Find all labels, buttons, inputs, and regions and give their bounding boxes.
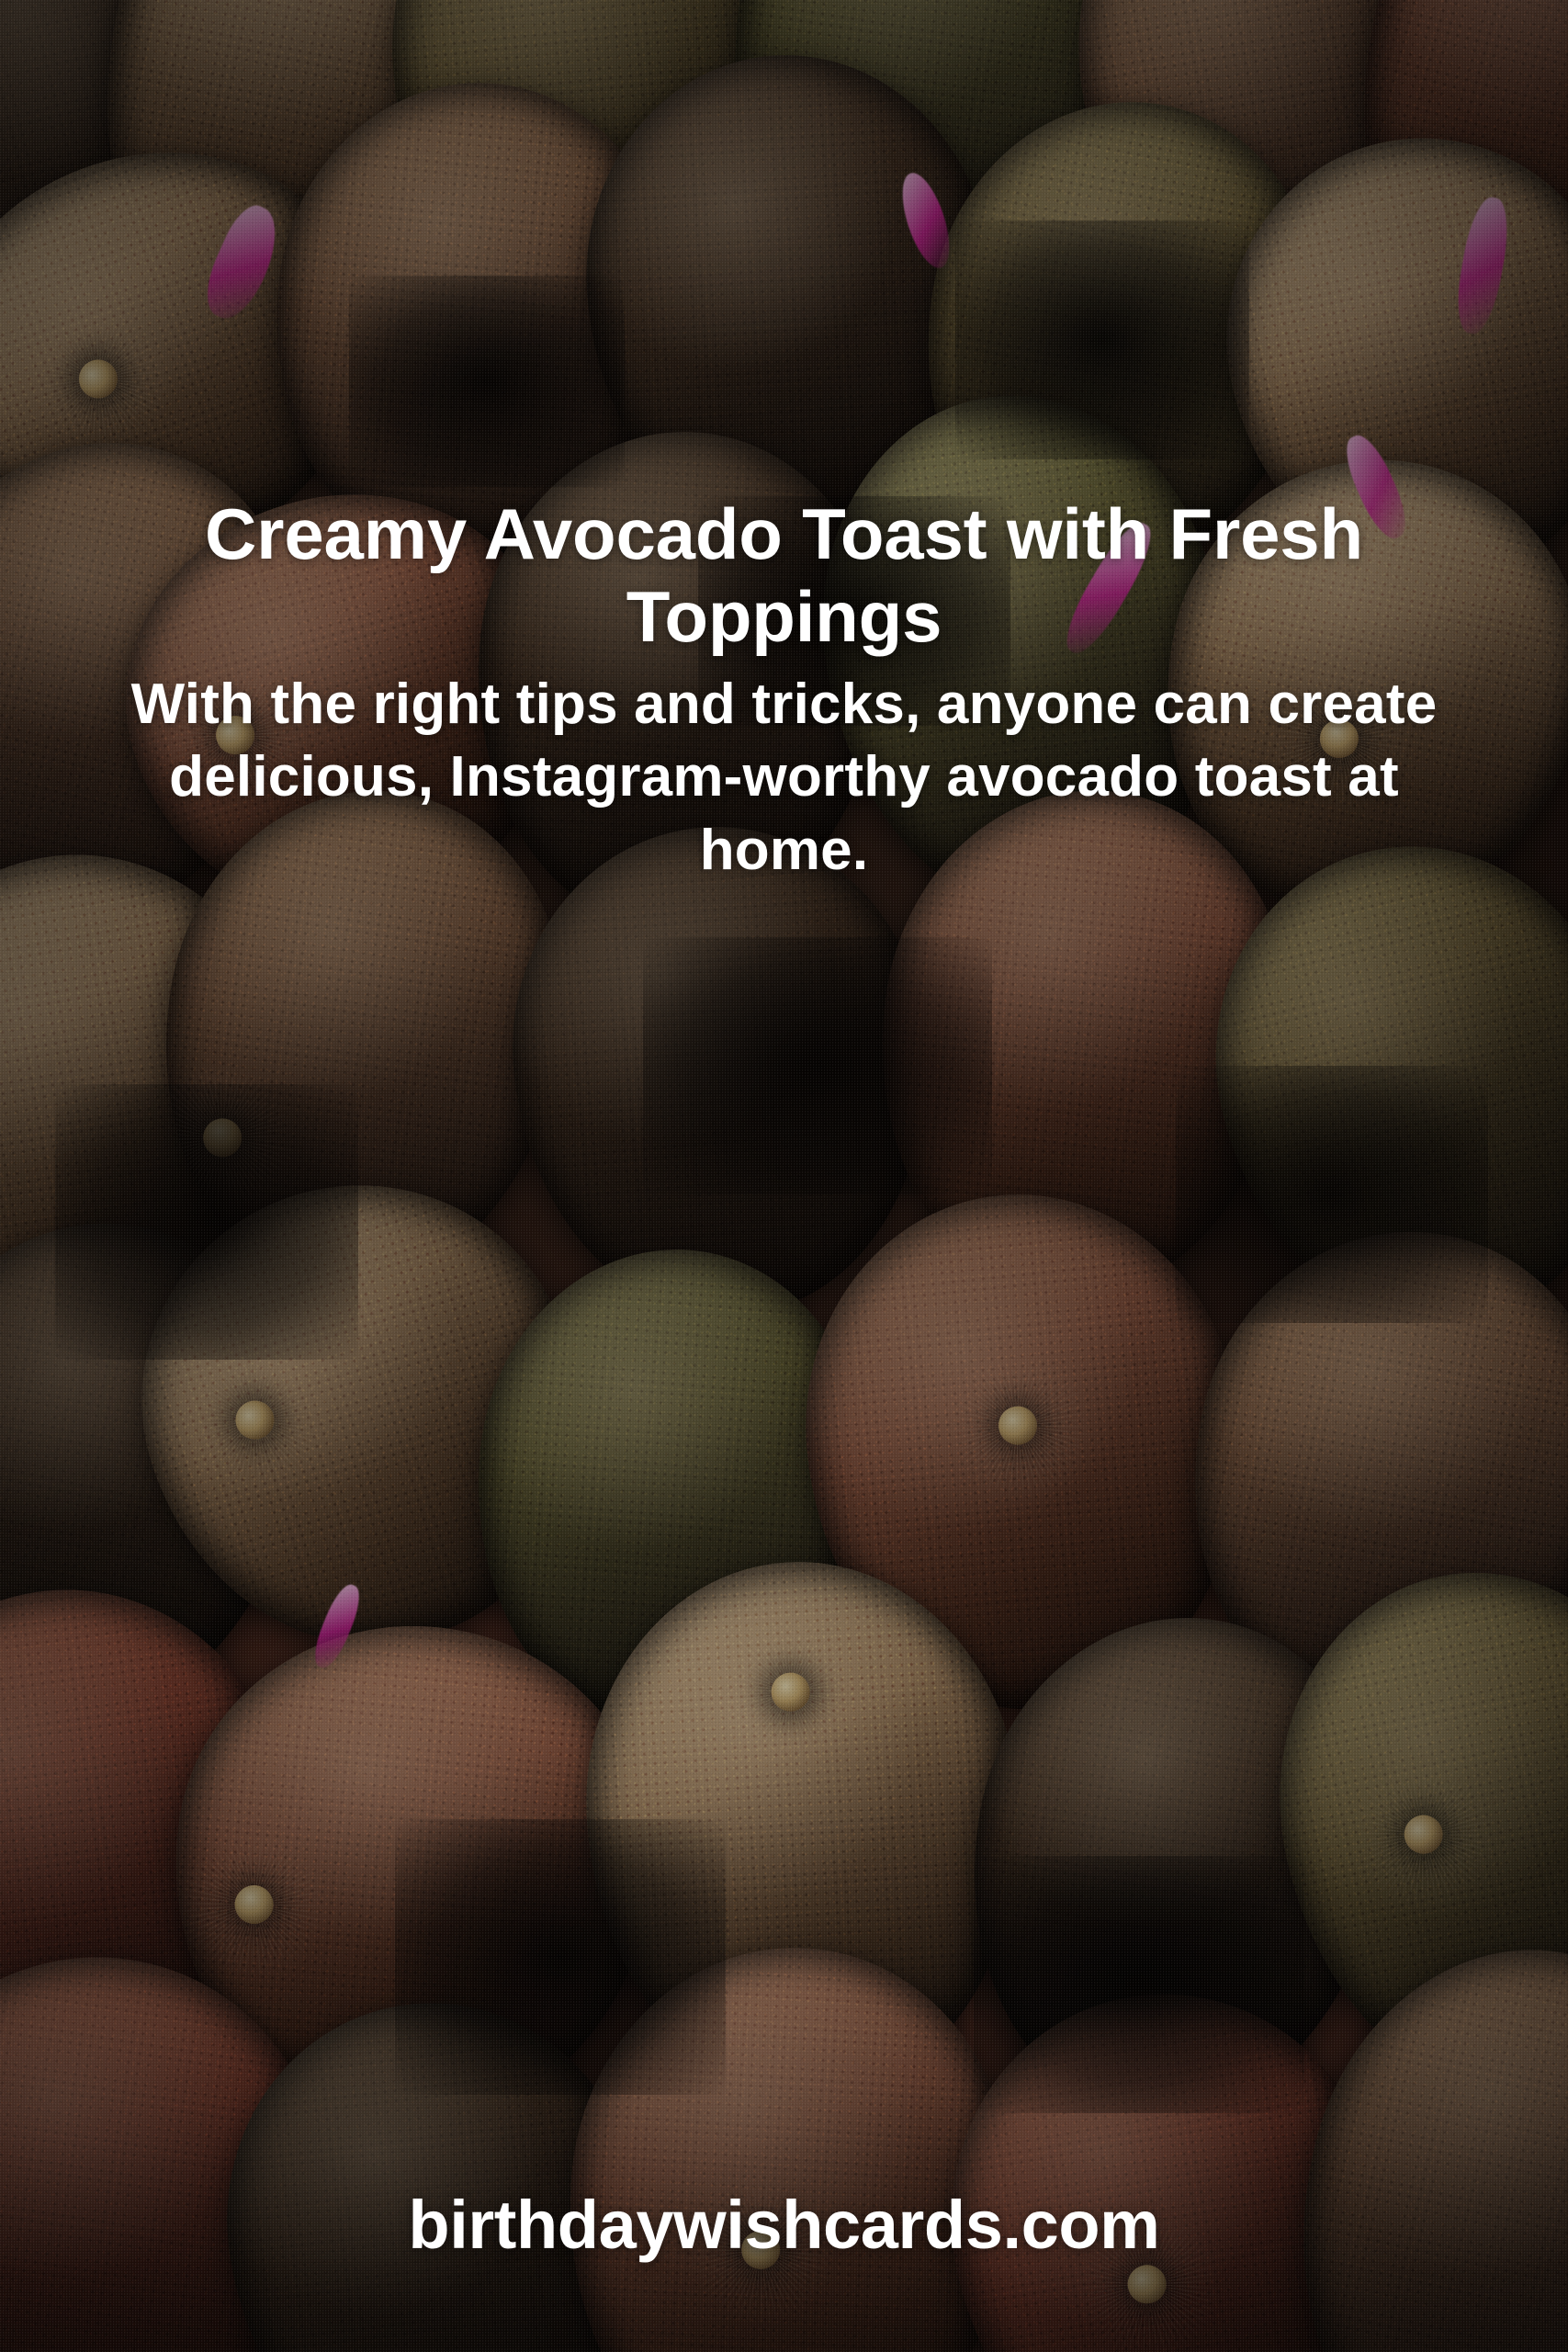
headline-block: Creamy Avocado Toast with Fresh Toppings… bbox=[0, 492, 1568, 887]
site-domain-footer: birthdaywishcards.com bbox=[0, 2186, 1568, 2264]
text-overlay: Creamy Avocado Toast with Fresh Toppings… bbox=[0, 0, 1568, 2352]
page-subtitle: With the right tips and tricks, anyone c… bbox=[81, 668, 1487, 887]
recipe-pin-card: Creamy Avocado Toast with Fresh Toppings… bbox=[0, 0, 1568, 2352]
page-title: Creamy Avocado Toast with Fresh Toppings bbox=[81, 492, 1487, 659]
